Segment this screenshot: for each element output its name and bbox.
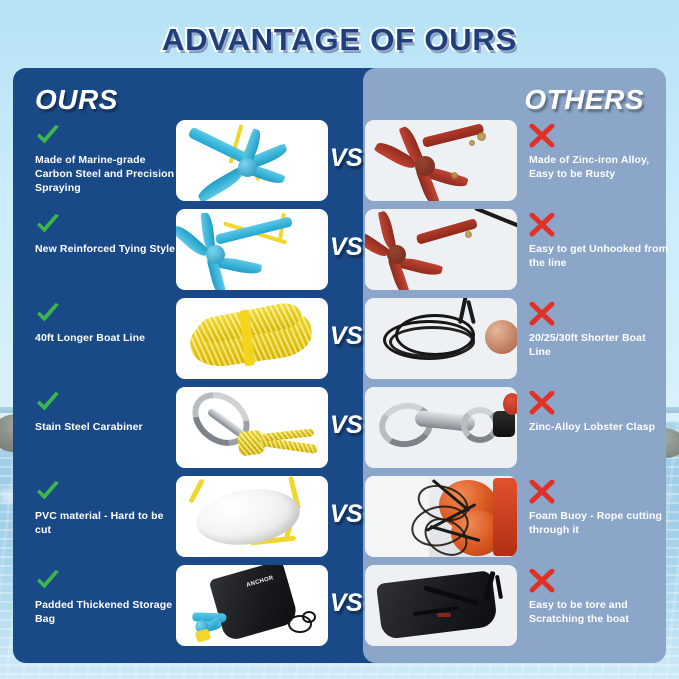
others-drawback: Made of Zinc-iron Alloy, Easy to be Rust… xyxy=(529,124,669,181)
check-icon xyxy=(35,391,61,415)
vs-badge: VS xyxy=(325,322,367,351)
ours-feature: 40ft Longer Boat Line xyxy=(35,302,177,345)
ours-product-image xyxy=(176,476,328,557)
others-drawback-label: Zinc-Alloy Lobster Clasp xyxy=(529,420,669,434)
ours-product-image xyxy=(176,209,328,290)
vs-badge: VS xyxy=(325,500,367,529)
ours-feature: New Reinforced Tying Style xyxy=(35,213,177,256)
cross-icon xyxy=(529,213,555,237)
vs-badge: VS xyxy=(325,144,367,173)
check-icon xyxy=(35,480,61,504)
ours-product-image xyxy=(176,298,328,379)
others-drawback-label: Easy to be tore and Scratching the boat xyxy=(529,598,669,626)
comparison-rows: Made of Marine-grade Carbon Steel and Pr… xyxy=(13,120,666,654)
others-column-heading: OTHERS xyxy=(524,84,644,116)
title-container: ADVANTAGE OF OURS xyxy=(0,22,679,58)
comparison-row: PVC material - Hard to be cut VS xyxy=(13,476,666,565)
others-product-image xyxy=(365,565,517,646)
others-drawback-label: Easy to get Unhooked from the line xyxy=(529,242,669,270)
cross-icon xyxy=(529,124,555,148)
ours-feature-label: New Reinforced Tying Style xyxy=(35,242,177,256)
cross-icon xyxy=(529,480,555,504)
vs-badge: VS xyxy=(325,589,367,618)
cross-icon xyxy=(529,569,555,593)
others-drawback: Zinc-Alloy Lobster Clasp xyxy=(529,391,669,434)
cross-icon xyxy=(529,302,555,326)
check-icon xyxy=(35,302,61,326)
others-drawback-label: Made of Zinc-iron Alloy, Easy to be Rust… xyxy=(529,153,669,181)
vs-badge: VS xyxy=(325,411,367,440)
others-drawback-label: 20/25/30ft Shorter Boat Line xyxy=(529,331,669,359)
check-icon xyxy=(35,124,61,148)
others-product-image xyxy=(365,209,517,290)
ours-feature: Padded Thickened Storage Bag xyxy=(35,569,177,626)
ours-feature-label: Stain Steel Carabiner xyxy=(35,420,177,434)
check-icon xyxy=(35,213,61,237)
comparison-board: OURS OTHERS Made of Marine-grade Carbon … xyxy=(13,68,666,663)
others-product-image xyxy=(365,298,517,379)
comparison-row: Stain Steel Carabiner VS xyxy=(13,387,666,476)
others-product-image xyxy=(365,387,517,468)
ours-feature-label: Padded Thickened Storage Bag xyxy=(35,598,177,626)
comparison-row: Made of Marine-grade Carbon Steel and Pr… xyxy=(13,120,666,209)
others-drawback: 20/25/30ft Shorter Boat Line xyxy=(529,302,669,359)
ours-product-image: ANCHOR xyxy=(176,565,328,646)
ours-product-image xyxy=(176,120,328,201)
cross-icon xyxy=(529,391,555,415)
ours-feature: Stain Steel Carabiner xyxy=(35,391,177,434)
vs-badge: VS xyxy=(325,233,367,262)
comparison-row: Padded Thickened Storage Bag ANCHOR xyxy=(13,565,666,654)
others-product-image xyxy=(365,476,517,557)
ours-feature-label: 40ft Longer Boat Line xyxy=(35,331,177,345)
check-icon xyxy=(35,569,61,593)
others-product-image xyxy=(365,120,517,201)
others-drawback: Easy to be tore and Scratching the boat xyxy=(529,569,669,626)
page-title: ADVANTAGE OF OURS xyxy=(162,22,517,58)
ours-feature: Made of Marine-grade Carbon Steel and Pr… xyxy=(35,124,177,195)
others-drawback: Foam Buoy - Rope cutting through it xyxy=(529,480,669,537)
ours-feature-label: PVC material - Hard to be cut xyxy=(35,509,177,537)
ours-feature: PVC material - Hard to be cut xyxy=(35,480,177,537)
ours-feature-label: Made of Marine-grade Carbon Steel and Pr… xyxy=(35,153,177,195)
others-drawback: Easy to get Unhooked from the line xyxy=(529,213,669,270)
ours-column-heading: OURS xyxy=(35,84,118,116)
comparison-row: New Reinforced Tying Style xyxy=(13,209,666,298)
others-drawback-label: Foam Buoy - Rope cutting through it xyxy=(529,509,669,537)
comparison-row: 40ft Longer Boat Line VS xyxy=(13,298,666,387)
ours-product-image xyxy=(176,387,328,468)
